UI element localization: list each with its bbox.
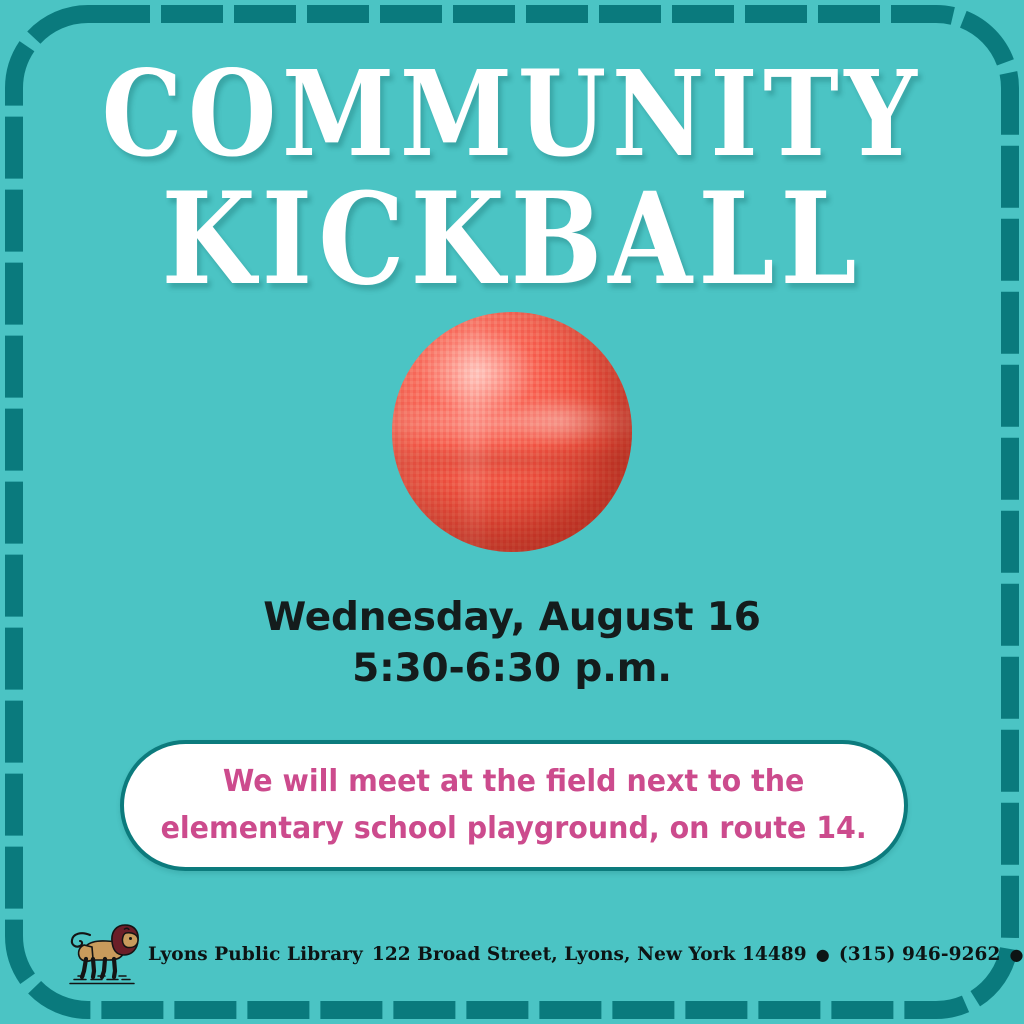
event-time: 5:30-6:30 p.m. bbox=[0, 643, 1024, 694]
kickball-shading bbox=[392, 312, 632, 552]
footer-separator-2: ● bbox=[1001, 945, 1024, 964]
lion-eye bbox=[129, 937, 132, 940]
location-line-2: elementary school playground, on route 1… bbox=[161, 806, 867, 853]
lion-icon bbox=[64, 921, 140, 987]
headline-line-2: KICKBALL bbox=[72, 178, 953, 301]
kickball-icon bbox=[392, 312, 632, 552]
event-date: Wednesday, August 16 bbox=[0, 592, 1024, 643]
footer-address: 122 Broad Street, Lyons, New York 14489 bbox=[372, 944, 807, 965]
footer-organization: Lyons Public Library bbox=[148, 944, 363, 965]
poster-footer: Lyons Public Library 122 Broad Street, L… bbox=[64, 918, 994, 990]
lion-leg-front-1 bbox=[102, 959, 105, 977]
footer-contact-line: Lyons Public Library 122 Broad Street, L… bbox=[148, 944, 1024, 965]
lion-leg-rear-1 bbox=[82, 959, 86, 977]
location-callout: We will meet at the field next to the el… bbox=[120, 740, 908, 871]
footer-phone: (315) 946-9262 bbox=[839, 944, 1001, 965]
lion-leg-rear-2 bbox=[93, 959, 94, 977]
event-datetime: Wednesday, August 16 5:30-6:30 p.m. bbox=[0, 592, 1024, 695]
lion-head bbox=[122, 933, 138, 948]
location-line-1: We will meet at the field next to the bbox=[161, 759, 867, 806]
poster-headline: COMMUNITY KICKBALL bbox=[0, 56, 1024, 301]
headline-line-1: COMMUNITY bbox=[72, 56, 953, 172]
footer-separator-1: ● bbox=[807, 945, 839, 964]
community-kickball-poster: COMMUNITY KICKBALL Wednesday, August 16 … bbox=[0, 0, 1024, 1024]
lion-leg-front-2 bbox=[114, 959, 115, 977]
location-text: We will meet at the field next to the el… bbox=[161, 759, 867, 852]
